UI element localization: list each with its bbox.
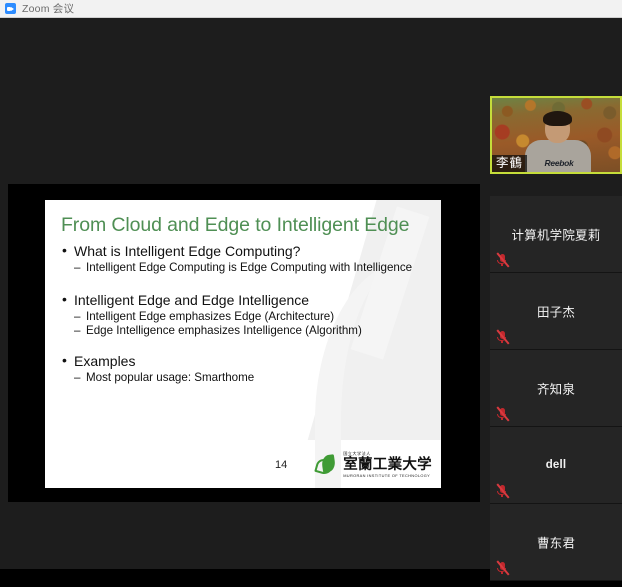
slide-bullet-level1: Examples bbox=[61, 352, 425, 370]
slide-page-number: 14 bbox=[275, 459, 287, 471]
window-title-bar: Zoom 会议 bbox=[0, 0, 622, 18]
slide-footer: 14 国立大学法人 室蘭工業大学 MURORAN INSTITUTE OF TE… bbox=[45, 444, 441, 480]
microphone-muted-icon bbox=[495, 406, 510, 422]
participant-name: 曹东君 bbox=[490, 533, 622, 552]
video-shirt-brand-text: Reebok bbox=[537, 158, 581, 168]
participant-name: 田子杰 bbox=[490, 302, 622, 321]
window-title: Zoom 会议 bbox=[22, 1, 74, 16]
participant-tile[interactable]: 田子杰 bbox=[490, 273, 622, 350]
slide-bullet-level2: Most popular usage: Smarthome bbox=[74, 371, 425, 386]
slide-spacer bbox=[61, 278, 425, 291]
slide-bullet-level2: Edge Intelligence emphasizes Intelligenc… bbox=[74, 324, 425, 339]
slide-bullet-level2: Intelligent Edge Computing is Edge Compu… bbox=[74, 261, 425, 276]
slide-bullet-group: What is Intelligent Edge Computing? Inte… bbox=[61, 242, 425, 276]
slide-spacer bbox=[61, 341, 425, 352]
slide-bullet-level1: What is Intelligent Edge Computing? bbox=[61, 242, 425, 260]
participant-tile-list: 计算机学院夏莉 田子杰 齐知泉 bbox=[490, 196, 622, 581]
leaf-icon bbox=[315, 454, 339, 476]
logo-line-small: 国立大学法人 bbox=[343, 452, 432, 456]
participant-name: 齐知泉 bbox=[490, 379, 622, 398]
slide-bullet-level1: Intelligent Edge and Edge Intelligence bbox=[61, 291, 425, 309]
participant-filmstrip[interactable]: Reebok 李鶴 计算机学院夏莉 田子杰 bbox=[490, 96, 622, 587]
zoom-camera-icon bbox=[5, 3, 16, 14]
active-speaker-name-label: 李鶴 bbox=[492, 155, 527, 172]
zoom-meeting-window: Zoom 会议 From Cloud and Edge to Intellige… bbox=[0, 0, 622, 569]
slide-bullet-group: Examples Most popular usage: Smarthome bbox=[61, 352, 425, 386]
slide-title: From Cloud and Edge to Intelligent Edge bbox=[61, 214, 425, 237]
participant-tile[interactable]: dell bbox=[490, 427, 622, 504]
slide-bullet-list: What is Intelligent Edge Computing? Inte… bbox=[61, 242, 425, 385]
slide-bullet-group: Intelligent Edge and Edge Intelligence I… bbox=[61, 291, 425, 339]
microphone-muted-icon bbox=[495, 329, 510, 345]
university-logo: 国立大学法人 室蘭工業大学 MURORAN INSTITUTE OF TECHN… bbox=[315, 452, 432, 478]
slide-bullet-level2: Intelligent Edge emphasizes Edge (Archit… bbox=[74, 310, 425, 325]
video-person-hair bbox=[543, 111, 572, 126]
microphone-muted-icon bbox=[495, 252, 510, 268]
slide-sublist: Intelligent Edge emphasizes Edge (Archit… bbox=[61, 310, 425, 339]
microphone-muted-icon bbox=[495, 560, 510, 576]
meeting-stage: From Cloud and Edge to Intelligent Edge … bbox=[0, 18, 622, 569]
video-person-body bbox=[525, 140, 591, 174]
shared-screen-canvas[interactable]: From Cloud and Edge to Intelligent Edge … bbox=[8, 184, 480, 502]
participant-name: dell bbox=[490, 459, 622, 471]
active-speaker-video-tile[interactable]: Reebok 李鶴 bbox=[490, 96, 622, 174]
slide-sublist: Intelligent Edge Computing is Edge Compu… bbox=[61, 261, 425, 276]
participant-tile[interactable]: 齐知泉 bbox=[490, 350, 622, 427]
participant-name: 计算机学院夏莉 bbox=[490, 225, 622, 244]
logo-line-main: 室蘭工業大学 bbox=[343, 458, 432, 473]
presentation-slide: From Cloud and Edge to Intelligent Edge … bbox=[45, 200, 441, 488]
logo-line-roman: MURORAN INSTITUTE OF TECHNOLOGY bbox=[343, 474, 432, 478]
slide-sublist: Most popular usage: Smarthome bbox=[61, 371, 425, 386]
microphone-muted-icon bbox=[495, 483, 510, 499]
participant-tile[interactable]: 曹东君 bbox=[490, 504, 622, 581]
participant-tile[interactable]: 计算机学院夏莉 bbox=[490, 196, 622, 273]
